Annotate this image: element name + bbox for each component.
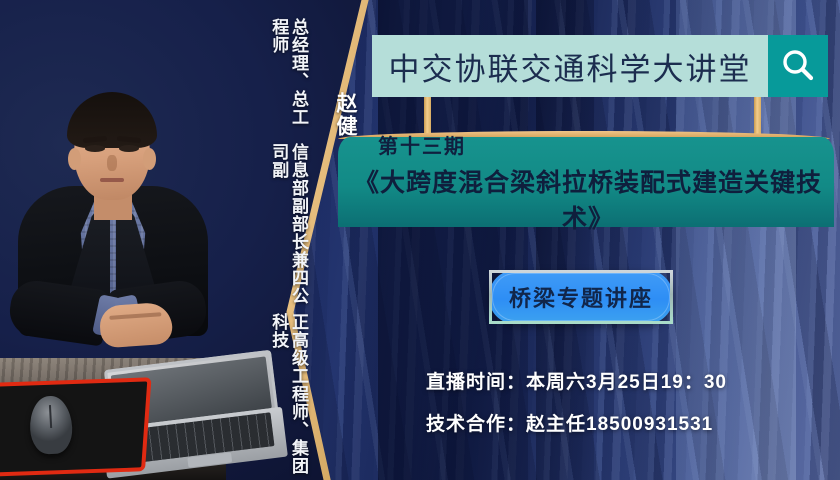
ear-left — [68, 148, 81, 170]
search-icon[interactable] — [768, 35, 828, 97]
broadcast-time: 直播时间：本周六3月25日19：30 — [426, 367, 727, 394]
episode-label: 第十三期 — [342, 130, 834, 159]
gold-pillar-left — [424, 97, 431, 134]
topic-badge[interactable]: 桥梁专题讲座 — [489, 270, 673, 324]
header-banner: 中交协联交通科学大讲堂 — [372, 35, 828, 97]
eye-right — [119, 145, 139, 152]
credential-column-3: 总经理、总工程师 — [269, 18, 308, 140]
lecture-topic: 《大跨度混合梁斜拉桥装配式建造关键技术》 — [342, 163, 834, 235]
title-body: 第十三期 《大跨度混合梁斜拉桥装配式建造关键技术》 — [338, 137, 834, 227]
arm-left — [7, 278, 110, 347]
mouth — [100, 178, 124, 182]
gold-pillar-right — [754, 97, 761, 134]
speaker-figure — [12, 76, 212, 376]
hair — [67, 92, 157, 148]
clasped-hands — [99, 302, 174, 349]
contact-info: 技术合作：赵主任18500931531 — [426, 409, 713, 436]
nose — [107, 155, 117, 171]
eye-left — [85, 145, 105, 152]
speaker-portrait — [0, 92, 226, 480]
banner-title: 中交协联交通科学大讲堂 — [372, 35, 768, 97]
topic-badge-label: 桥梁专题讲座 — [509, 281, 653, 313]
credential-column-1: 正高级工程师、集团科技 — [269, 313, 308, 480]
ear-right — [143, 148, 156, 170]
title-block: 第十三期 《大跨度混合梁斜拉桥装配式建造关键技术》 — [338, 131, 830, 227]
mousepad — [0, 377, 152, 476]
livestream-poster: 赵健 正高级工程师、集团科技 信息部副部长兼四公司副 总经理、总工程师 中交协联… — [0, 0, 840, 480]
credential-column-2: 信息部副部长兼四公司副 — [269, 143, 308, 310]
speaker-credentials: 正高级工程师、集团科技 信息部副部长兼四公司副 总经理、总工程师 — [269, 18, 308, 480]
